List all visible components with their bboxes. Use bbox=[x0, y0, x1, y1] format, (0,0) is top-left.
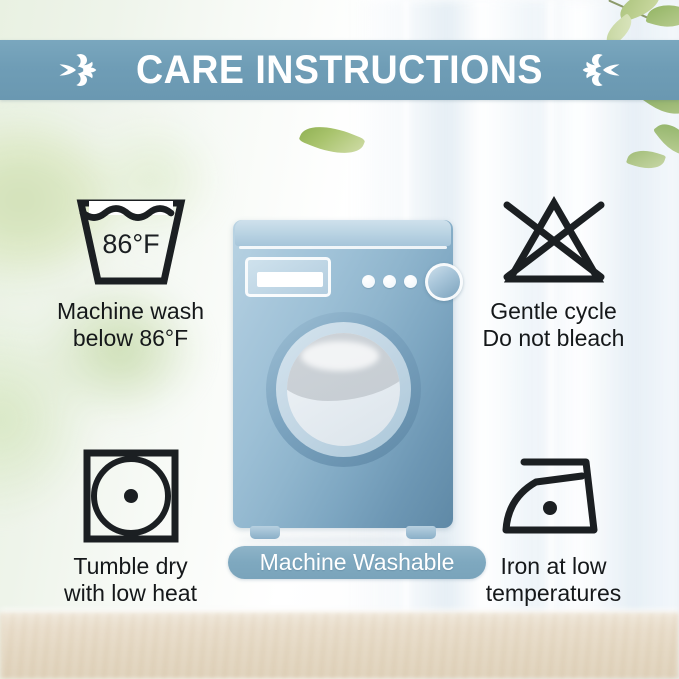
care-instructions-infographic: CARE INSTRUCTIONS 86°F Machine wash belo… bbox=[0, 0, 679, 679]
detergent-drawer-slot bbox=[257, 272, 323, 287]
program-dial-knob bbox=[425, 263, 463, 301]
indicator-light bbox=[404, 275, 417, 288]
page-title: CARE INSTRUCTIONS bbox=[136, 50, 543, 90]
machine-foot bbox=[406, 526, 436, 539]
care-symbol-label: Gentle cycle Do not bleach bbox=[483, 298, 625, 352]
care-symbol-iron: Iron at low temperatures bbox=[436, 443, 671, 607]
care-symbol-do-not-bleach: Gentle cycle Do not bleach bbox=[436, 188, 671, 352]
door-glass-highlight bbox=[301, 341, 379, 371]
machine-body bbox=[233, 220, 453, 528]
indicator-light bbox=[362, 275, 375, 288]
machine-door-inner-ring bbox=[276, 322, 411, 457]
washing-machine-illustration bbox=[233, 208, 453, 533]
heat-level-dot bbox=[543, 501, 557, 515]
machine-top-lid bbox=[235, 220, 451, 246]
care-symbol-label: Machine wash below 86°F bbox=[57, 298, 204, 352]
indicator-light bbox=[383, 275, 396, 288]
wash-temperature-value: 86°F bbox=[102, 229, 159, 259]
machine-door-glass bbox=[287, 333, 400, 446]
machine-washable-badge: Machine Washable bbox=[228, 546, 486, 579]
do-not-bleach-triangle-icon bbox=[494, 188, 614, 294]
wood-grain-texture bbox=[0, 613, 679, 679]
care-symbol-label: Tumble dry with low heat bbox=[64, 553, 197, 607]
fleur-de-lis-icon-right bbox=[574, 49, 626, 91]
label-line-2: Do not bleach bbox=[483, 325, 625, 352]
wash-tub-icon: 86°F bbox=[72, 188, 190, 294]
header-banner: CARE INSTRUCTIONS bbox=[0, 40, 679, 100]
care-symbol-machine-wash: 86°F Machine wash below 86°F bbox=[18, 188, 243, 352]
machine-door-outer-ring bbox=[266, 312, 421, 467]
label-line-2: below 86°F bbox=[57, 325, 204, 352]
machine-panel-divider bbox=[239, 246, 447, 249]
label-line-1: Iron at low bbox=[486, 553, 622, 580]
detergent-drawer bbox=[245, 257, 331, 297]
care-symbol-label: Iron at low temperatures bbox=[486, 553, 622, 607]
tumble-dry-square-icon bbox=[78, 443, 184, 549]
label-line-1: Machine wash bbox=[57, 298, 204, 325]
care-symbol-tumble-dry: Tumble dry with low heat bbox=[18, 443, 243, 607]
label-line-1: Gentle cycle bbox=[483, 298, 625, 325]
label-line-2: temperatures bbox=[486, 580, 622, 607]
label-line-1: Tumble dry bbox=[64, 553, 197, 580]
label-line-2: with low heat bbox=[64, 580, 197, 607]
fleur-de-lis-icon-left bbox=[53, 49, 105, 91]
badge-label: Machine Washable bbox=[260, 551, 455, 574]
iron-icon bbox=[494, 443, 614, 549]
heat-level-dot bbox=[124, 489, 138, 503]
machine-foot bbox=[250, 526, 280, 539]
